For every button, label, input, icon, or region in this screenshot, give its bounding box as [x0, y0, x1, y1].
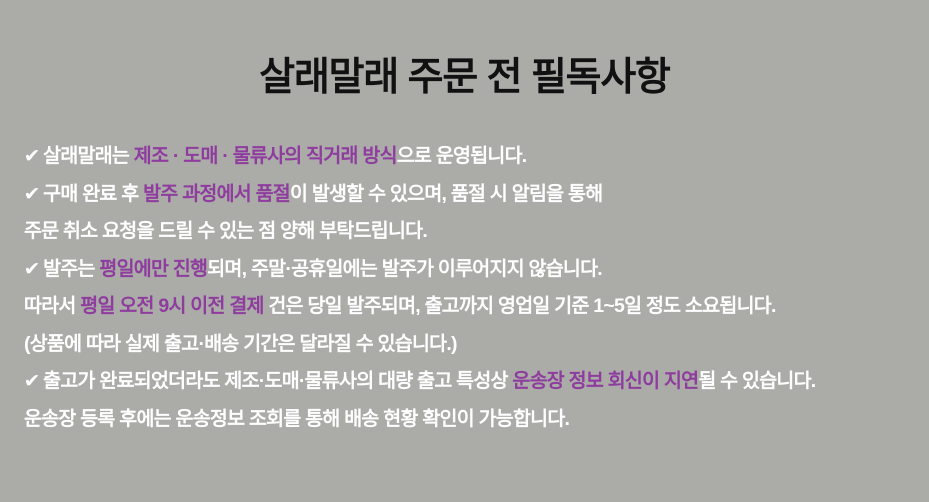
notice-line: 따라서 평일 오전 9시 이전 결제 건은 당일 발주되며, 출고까지 영업일 … [24, 288, 920, 326]
notice-text: (상품에 따라 실제 출고·배송 기간은 달라질 수 있습니다.) [24, 333, 457, 355]
notice-text: 발주는 [43, 258, 99, 280]
notice-line: ✔구매 완료 후 발주 과정에서 품절이 발생할 수 있으며, 품절 시 알림을… [24, 176, 920, 214]
notice-line: 운송장 등록 후에는 운송정보 조회를 통해 배송 현황 확인이 가능합니다. [24, 401, 920, 439]
notice-text: 으로 운영됩니다. [397, 145, 527, 167]
highlighted-text: 평일 오전 9시 이전 결제 [80, 295, 263, 317]
page-title: 살래말래 주문 전 필독사항 [0, 58, 929, 97]
notice-list: ✔살래말래는 제조 · 도매 · 물류사의 직거래 방식으로 운영됩니다.✔구매… [24, 138, 920, 438]
notice-text: 따라서 [24, 295, 80, 317]
notice-line: ✔살래말래는 제조 · 도매 · 물류사의 직거래 방식으로 운영됩니다. [24, 138, 920, 176]
highlighted-text: 운송장 정보 회신이 지연 [512, 370, 698, 392]
notice-text: 운송장 등록 후에는 운송정보 조회를 통해 배송 현황 확인이 가능합니다. [24, 408, 569, 430]
notice-text: 출고가 완료되었더라도 제조·도매·물류사의 대량 출고 특성상 [43, 370, 512, 392]
check-icon: ✔ [24, 363, 40, 401]
check-icon: ✔ [24, 176, 40, 214]
highlighted-text: 제조 · 도매 · 물류사의 직거래 방식 [134, 145, 397, 167]
notice-line: ✔발주는 평일에만 진행되며, 주말·공휴일에는 발주가 이루어지지 않습니다. [24, 251, 920, 289]
notice-line: ✔출고가 완료되었더라도 제조·도매·물류사의 대량 출고 특성상 운송장 정보… [24, 363, 920, 401]
notice-line: 주문 취소 요청을 드릴 수 있는 점 양해 부탁드립니다. [24, 213, 920, 251]
notice-line: (상품에 따라 실제 출고·배송 기간은 달라질 수 있습니다.) [24, 326, 920, 364]
notice-text: 주문 취소 요청을 드릴 수 있는 점 양해 부탁드립니다. [24, 220, 427, 242]
notice-text: 살래말래는 [43, 145, 134, 167]
notice-text: 되며, 주말·공휴일에는 발주가 이루어지지 않습니다. [207, 258, 602, 280]
notice-text: 이 발생할 수 있으며, 품절 시 알림을 통해 [290, 183, 602, 205]
notice-board: 살래말래 주문 전 필독사항 ✔살래말래는 제조 · 도매 · 물류사의 직거래… [0, 0, 929, 502]
notice-text: 될 수 있습니다. [698, 370, 815, 392]
highlighted-text: 발주 과정에서 품절 [143, 183, 290, 205]
notice-text: 건은 당일 발주되며, 출고까지 영업일 기준 1~5일 정도 소요됩니다. [264, 295, 776, 317]
check-icon: ✔ [24, 251, 40, 289]
highlighted-text: 평일에만 진행 [99, 258, 207, 280]
check-icon: ✔ [24, 138, 40, 176]
notice-text: 구매 완료 후 [43, 183, 143, 205]
